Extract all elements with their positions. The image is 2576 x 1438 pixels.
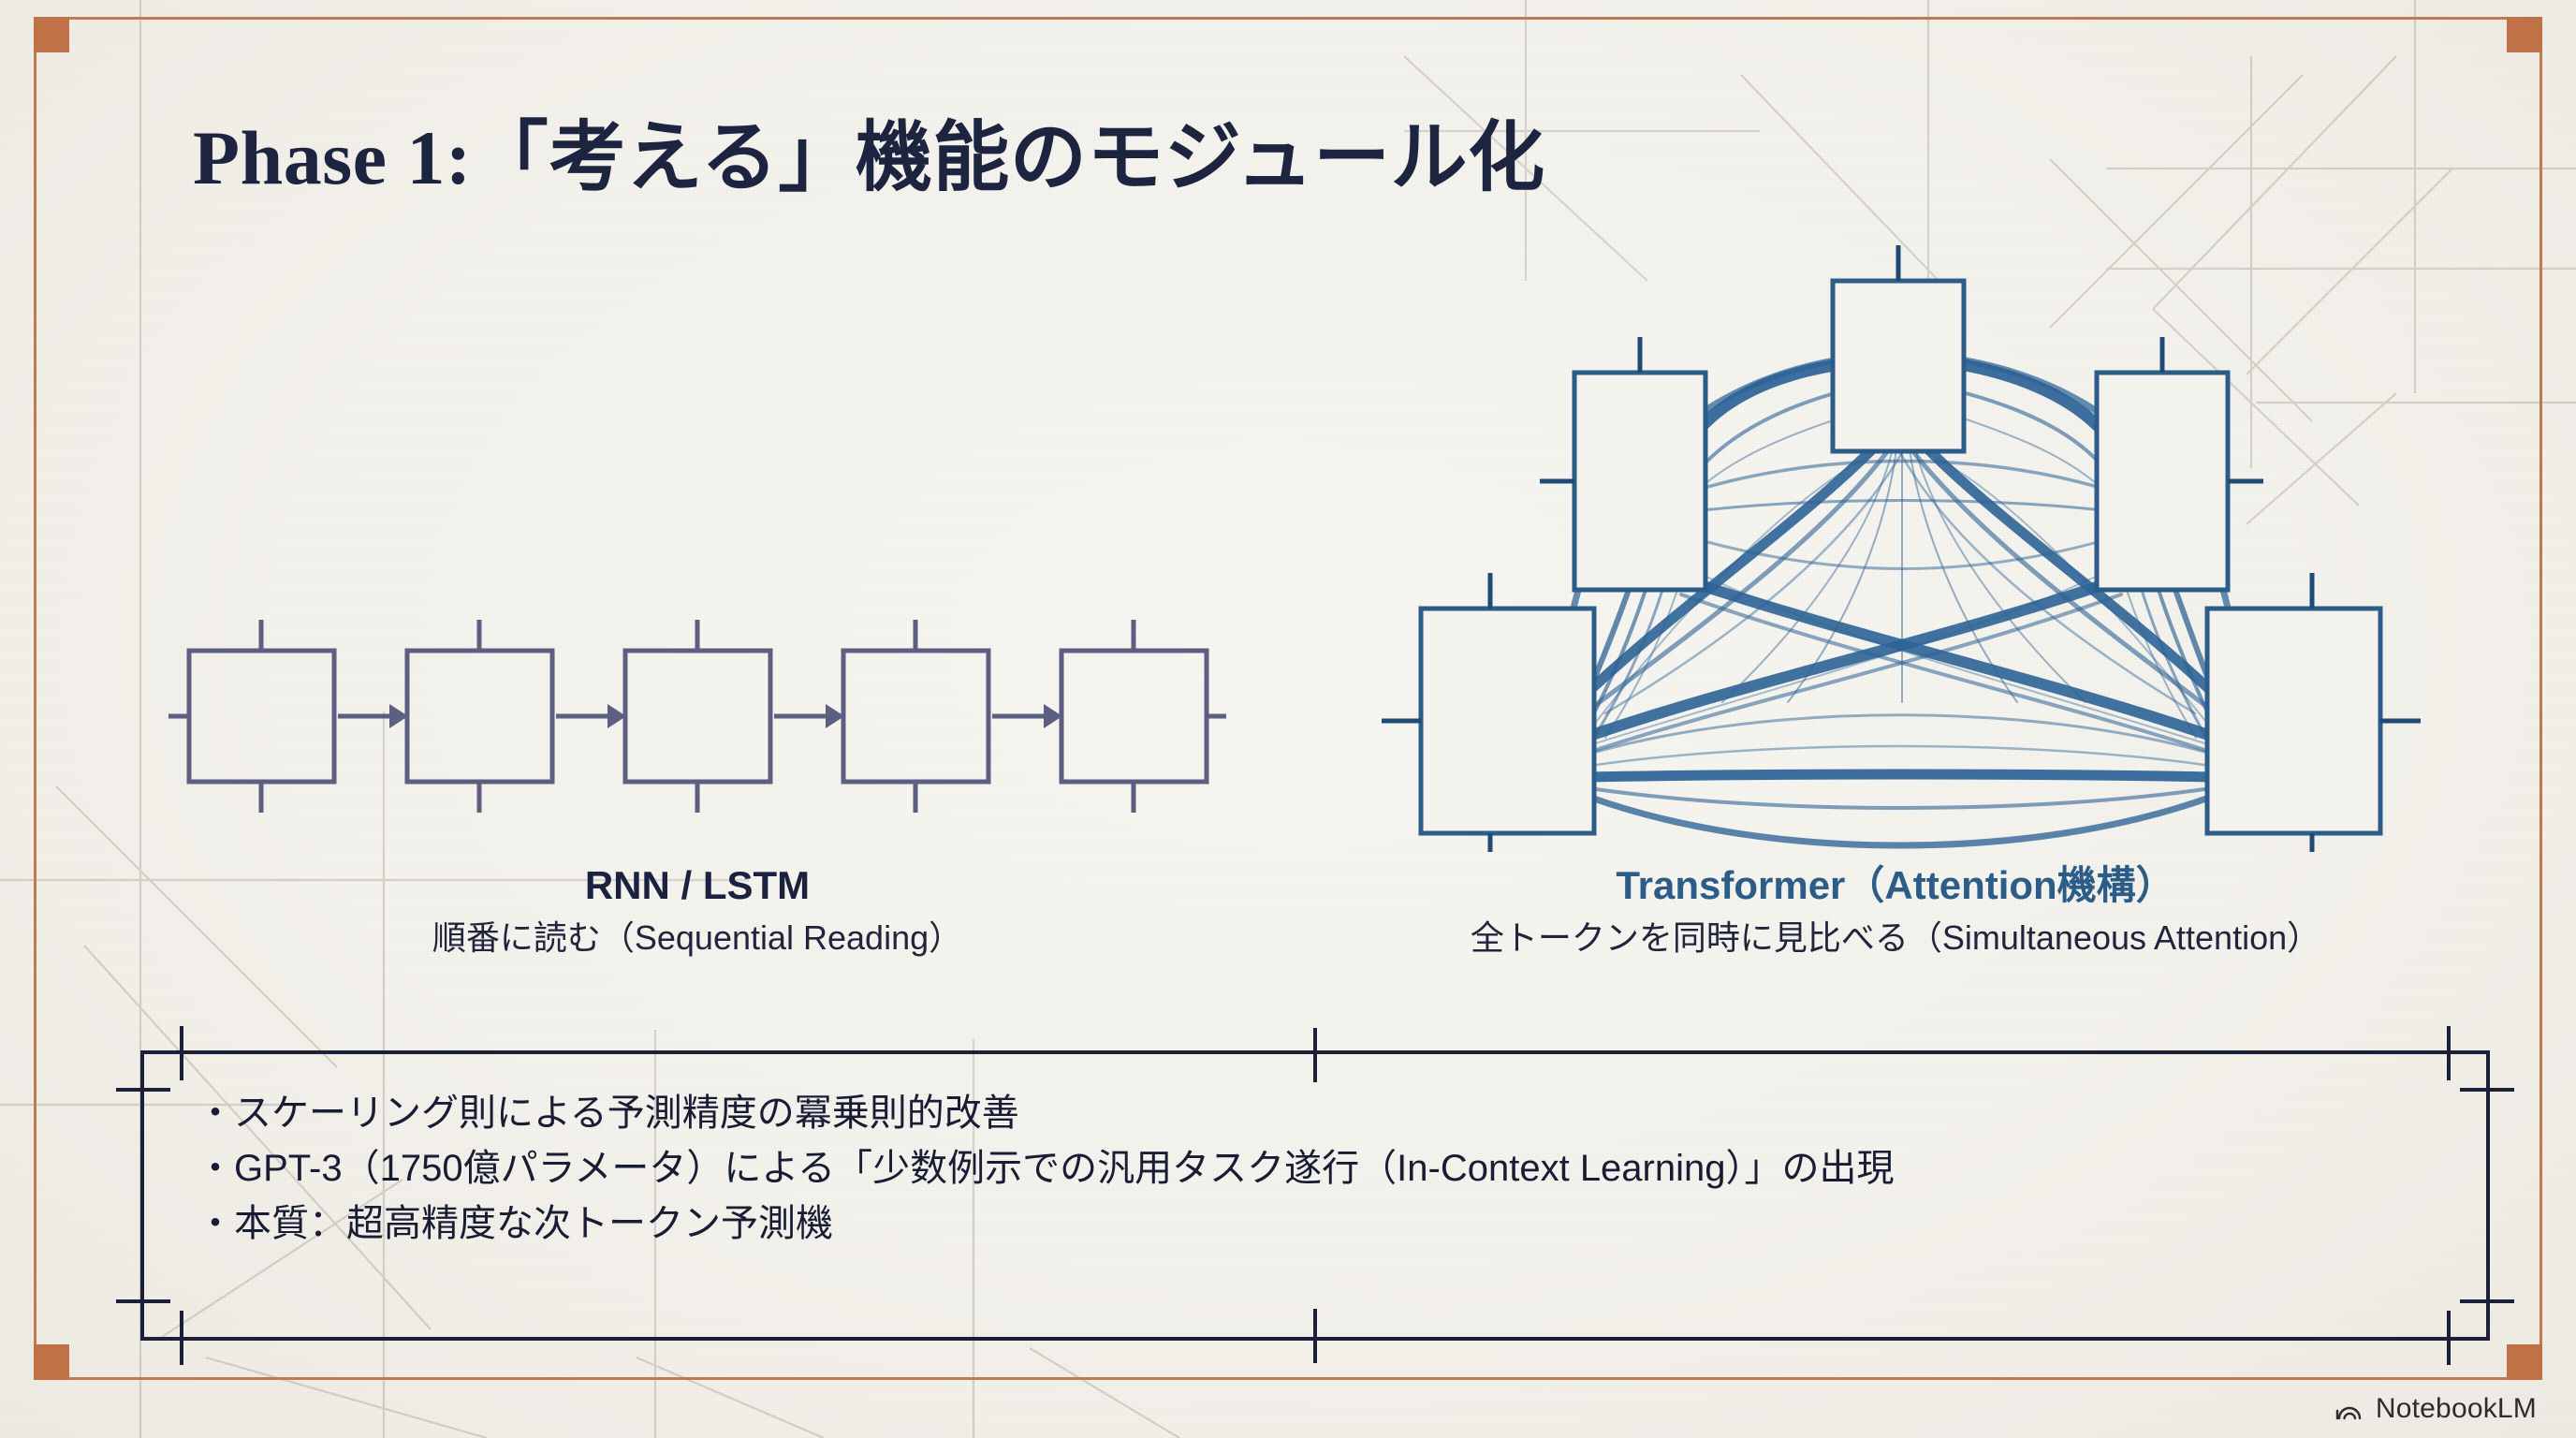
frame-corner-top-right bbox=[2507, 17, 2542, 52]
list-item: ・スケーリング則による予測精度の冪乗則的改善 bbox=[197, 1086, 2449, 1141]
summary-box: ・スケーリング則による予測精度の冪乗則的改善 ・GPT-3（1750億パラメータ… bbox=[140, 1050, 2490, 1341]
transformer-caption-subtitle: 全トークンを同時に見比べる（Simultaneous Attention） bbox=[1329, 917, 2462, 961]
box-tick-top-left-vertical bbox=[180, 1026, 183, 1080]
summary-bullet-list: ・スケーリング則による予測精度の冪乗則的改善 ・GPT-3（1750億パラメータ… bbox=[197, 1086, 2449, 1253]
box-tick-bottom-right-vertical bbox=[2447, 1311, 2451, 1365]
list-item: ・本質：超高精度な次トークン予測機 bbox=[197, 1196, 2449, 1252]
rnn-caption-title: RNN / LSTM bbox=[168, 861, 1226, 911]
box-tick-bottom-left-vertical bbox=[180, 1311, 183, 1365]
transformer-caption: Transformer（Attention機構） 全トークンを同時に見比べる（S… bbox=[1329, 861, 2462, 960]
box-tick-bottom-center bbox=[1313, 1309, 1317, 1363]
notebooklm-label: NotebookLM bbox=[2376, 1393, 2537, 1425]
box-tick-top-left-horizontal bbox=[116, 1088, 170, 1092]
frame-corner-bottom-right bbox=[2507, 1344, 2542, 1380]
slide-canvas: Phase 1:「考える」機能のモジュール化 bbox=[0, 0, 2576, 1438]
box-tick-top-center bbox=[1313, 1028, 1317, 1082]
notebooklm-watermark: NotebookLM bbox=[2334, 1393, 2537, 1425]
box-tick-top-right-horizontal bbox=[2460, 1088, 2514, 1092]
box-tick-bottom-left-horizontal bbox=[116, 1299, 170, 1303]
frame-corner-bottom-left bbox=[34, 1344, 69, 1380]
page-title: Phase 1:「考える」機能のモジュール化 bbox=[193, 120, 1545, 197]
transformer-attention-diagram bbox=[1348, 215, 2452, 852]
frame-corner-top-left bbox=[34, 17, 69, 52]
list-item: ・GPT-3（1750億パラメータ）による「少数例示での汎用タスク遂行（In-C… bbox=[197, 1141, 2449, 1196]
box-tick-top-right-vertical bbox=[2447, 1026, 2451, 1080]
rnn-lstm-diagram bbox=[168, 609, 1226, 824]
box-tick-bottom-right-horizontal bbox=[2460, 1299, 2514, 1303]
rnn-caption-subtitle: 順番に読む（Sequential Reading） bbox=[168, 917, 1226, 961]
rnn-caption: RNN / LSTM 順番に読む（Sequential Reading） bbox=[168, 861, 1226, 960]
transformer-caption-title: Transformer（Attention機構） bbox=[1329, 861, 2462, 911]
notebooklm-spiral-icon bbox=[2334, 1397, 2366, 1421]
